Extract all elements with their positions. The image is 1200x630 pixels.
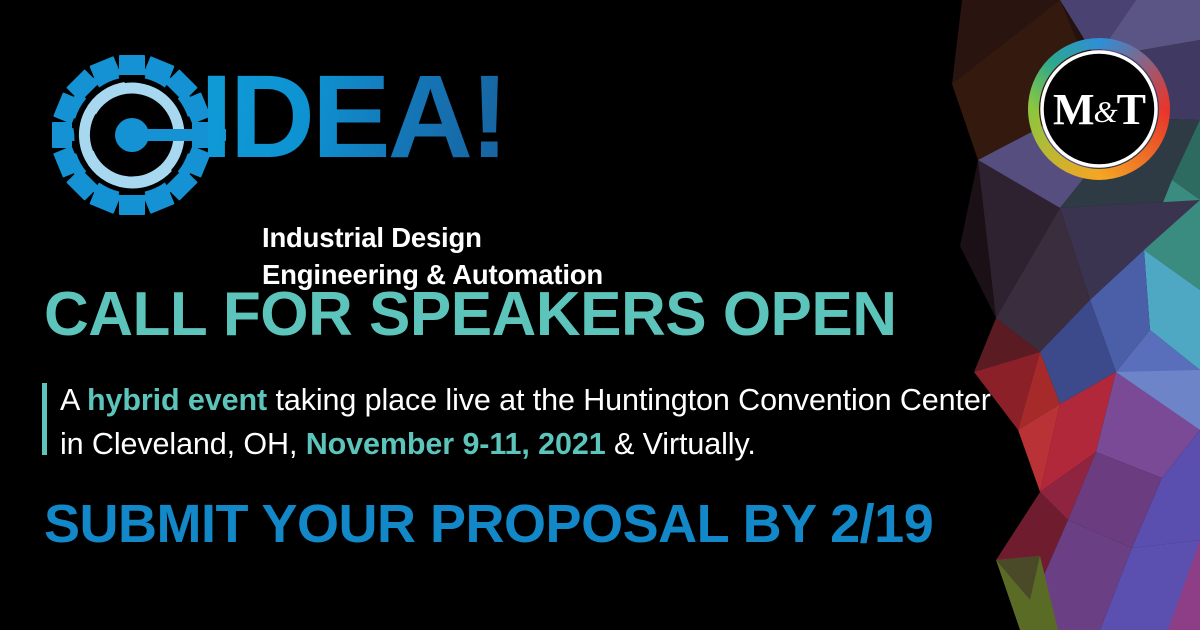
para-seg-3: & Virtually. bbox=[606, 427, 756, 461]
headline: CALL FOR SPEAKERS OPEN bbox=[44, 284, 897, 346]
para-highlight-dates: November 9-11, 2021 bbox=[306, 427, 606, 461]
mt-logo-badge: M&T bbox=[1028, 38, 1170, 180]
para-highlight-hybrid: hybrid event bbox=[87, 383, 267, 417]
badge-letter-m: M bbox=[1053, 84, 1094, 135]
mt-badge-text: M&T bbox=[1028, 38, 1170, 180]
promo-banner: IDEA! Industrial Design Engineering & Au… bbox=[0, 0, 1200, 630]
cta-submit-deadline: SUBMIT YOUR PROPOSAL BY 2/19 bbox=[44, 497, 933, 551]
idea-logo: IDEA! Industrial Design Engineering & Au… bbox=[48, 42, 668, 257]
event-details: A hybrid event taking place live at the … bbox=[42, 378, 1002, 466]
tagline-line-1: Industrial Design bbox=[262, 220, 603, 257]
event-details-text: A hybrid event taking place live at the … bbox=[60, 378, 1002, 466]
wordmark-idea: IDEA! bbox=[200, 58, 506, 176]
badge-letter-t: T bbox=[1117, 84, 1145, 135]
accent-bar bbox=[42, 383, 47, 455]
para-seg-1: A bbox=[60, 383, 87, 417]
badge-ampersand: & bbox=[1094, 94, 1117, 130]
